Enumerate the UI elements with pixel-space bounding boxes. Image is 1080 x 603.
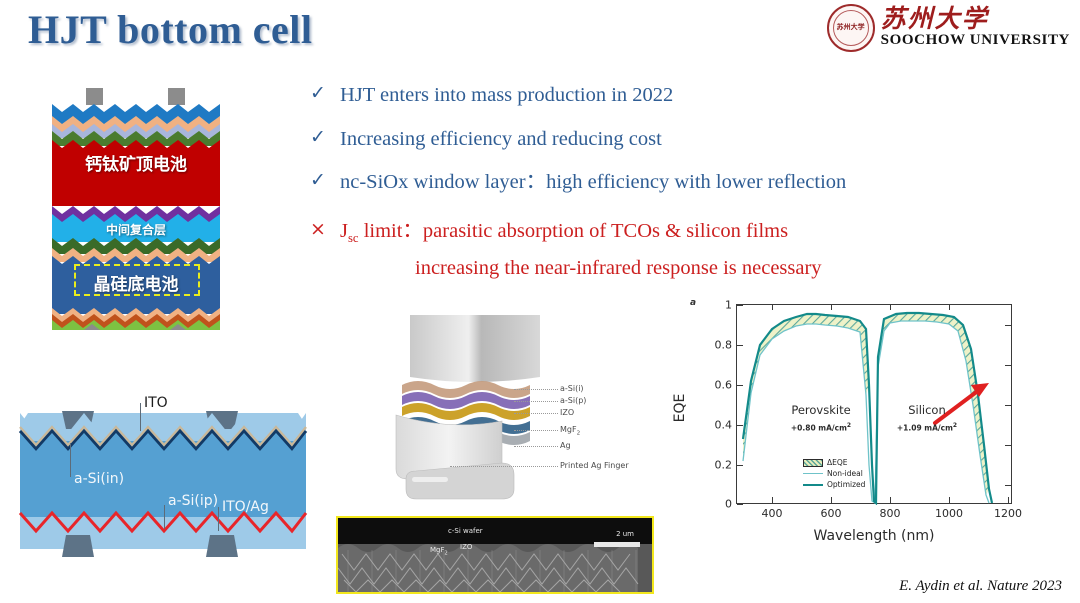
label-a-si-p: a-Si(p) [560, 396, 586, 405]
annotation-perovskite-unit-sup: 2 [847, 422, 851, 429]
annotation-silicon-name: Silicon [877, 403, 977, 417]
leader-izo [514, 413, 558, 414]
y-tick [737, 504, 743, 505]
label-a-si-ip: a-Si(ip) [168, 493, 218, 509]
chart-legend: ΔEQE Non-ideal Optimized [803, 457, 865, 490]
asi-p-leader-line [164, 505, 165, 529]
hjt-svg [18, 395, 308, 580]
x-tick-top [831, 305, 832, 310]
page-title: HJT bottom cell [28, 6, 313, 53]
bullet-text: HJT enters into mass production in 2022 [340, 82, 673, 109]
label-sem-mgf2-text: MgF [430, 546, 445, 554]
legend-label-non-ideal: Non-ideal [827, 469, 863, 478]
legend-swatch-line-thin-icon [803, 473, 823, 474]
citation-text: E. Aydin et al. Nature 2023 [899, 578, 1062, 595]
x-tick [831, 497, 832, 503]
x-tick [772, 497, 773, 503]
eqe-chart: a EQE Wavelength (nm) [678, 292, 1070, 562]
label-a-si-i: a-Si(i) [560, 384, 584, 393]
layer-bands [52, 104, 220, 330]
bullet-item-alert: × Jsc limit：parasitic absorption of TCOs… [310, 218, 980, 281]
label-sem-izo: IZO [460, 543, 472, 551]
label-ito: ITO [144, 395, 168, 411]
label-scale-bar: 2 um [616, 530, 634, 538]
silicon-bottom-cell-label: 晶硅底电池 [52, 270, 220, 295]
y-tick-label: 0.8 [715, 339, 733, 352]
x-tick-top [772, 305, 773, 310]
check-icon: ✓ [310, 82, 340, 106]
legend-item-non-ideal: Non-ideal [803, 468, 865, 479]
y-tick-label: 0.4 [715, 419, 733, 432]
seal-core-text: 苏州大学 [837, 24, 865, 31]
annotation-silicon-value: +1.09 mA/cm2 [877, 422, 977, 433]
y-tick-label: 0.2 [715, 459, 733, 472]
y-tick-right [1005, 365, 1011, 366]
y-tick-label: 0 [725, 498, 732, 511]
layer-render-svg [352, 303, 652, 513]
university-logo: 苏州大学 苏州大学 SOOCHOW UNIVERSITY [827, 4, 1070, 52]
label-ito-ag: ITO/Ag [222, 499, 269, 515]
annotation-silicon-unit-sup: 2 [953, 422, 957, 429]
y-tick [737, 385, 743, 386]
bullet-text: nc-SiOx window layer：high efficiency wit… [340, 169, 846, 196]
leader-printed-ag-finger [450, 466, 558, 467]
sem-svg [338, 518, 652, 592]
check-icon: ✓ [310, 126, 340, 150]
leader-ag [514, 446, 558, 447]
x-tick-top [949, 305, 950, 310]
x-tick [949, 497, 950, 503]
bullet-text-main: limit：parasitic absorption of TCOs & sil… [364, 220, 788, 242]
bullet-text-second-line: increasing the near-infrared response is… [415, 255, 822, 282]
label-ag: Ag [560, 441, 571, 450]
y-tick-right [1005, 325, 1011, 326]
ito-leader-line [140, 403, 141, 431]
y-tick-label: 1 [725, 299, 732, 312]
university-name-en: SOOCHOW UNIVERSITY [881, 32, 1070, 49]
bullet-list: ✓ HJT enters into mass production in 202… [310, 82, 980, 298]
cross-icon: × [310, 218, 340, 242]
bullet-item: ✓ Increasing efficiency and reducing cos… [310, 126, 980, 153]
label-izo: IZO [560, 408, 574, 417]
bullet-item: ✓ nc-SiOx window layer：high efficiency w… [310, 169, 980, 196]
annotation-silicon-value-text: +1.09 mA/cm [897, 424, 953, 433]
bullet-text-alert: Jsc limit：parasitic absorption of TCOs &… [340, 218, 822, 281]
annotation-perovskite: Perovskite +0.80 mA/cm2 [771, 403, 871, 433]
jsc-symbol: J [340, 220, 348, 242]
legend-item-delta-eqe: ΔEQE [803, 457, 865, 468]
tandem-stack-diagram: 钙钛矿顶电池 中间复合层 晶硅底电池 [52, 88, 220, 316]
y-tick-right [1005, 485, 1011, 486]
check-icon: ✓ [310, 169, 340, 193]
plot-area: 1 0.8 0.6 0.4 0.2 0 400 600 800 1000 120… [736, 304, 1012, 504]
university-name-cn: 苏州大学 [881, 6, 989, 31]
asi-n-leader-line [70, 443, 71, 477]
y-tick [737, 345, 743, 346]
y-tick-label: 0.6 [715, 379, 733, 392]
delta-eqe-band-perovskite [743, 314, 869, 461]
panel-label: a [690, 298, 696, 308]
leader-mgf2 [514, 430, 558, 431]
y-axis-label: EQE [672, 394, 688, 423]
legend-label-delta-eqe: ΔEQE [827, 458, 848, 467]
x-tick-label: 600 [821, 507, 842, 520]
x-tick [890, 497, 891, 503]
label-a-si-in: a-Si(in) [74, 471, 124, 487]
annotation-silicon: Silicon +1.09 mA/cm2 [877, 403, 977, 433]
annotation-perovskite-value: +0.80 mA/cm2 [771, 422, 871, 433]
label-mgf2-text: MgF [560, 425, 577, 434]
label-c-si-wafer: c-Si wafer [448, 527, 483, 535]
bullet-text: Increasing efficiency and reducing cost [340, 126, 662, 153]
x-tick-label: 1000 [935, 507, 963, 520]
label-sem-mgf2-subscript: 2 [445, 550, 448, 556]
perovskite-top-cell-label: 钙钛矿顶电池 [52, 150, 220, 175]
jsc-subscript: sc [348, 231, 359, 245]
university-names: 苏州大学 SOOCHOW UNIVERSITY [881, 6, 1070, 49]
leader-a-si-i [514, 389, 558, 390]
ito-ag-leader-line [218, 507, 219, 531]
bullet-item: ✓ HJT enters into mass production in 202… [310, 82, 980, 109]
hjt-cross-section-diagram: ITO a-Si(in) a-Si(ip) ITO/Ag [18, 395, 308, 580]
label-sem-mgf2: MgF2 [430, 546, 448, 556]
sem-micrograph: c-Si wafer MgF2 IZO 2 um [336, 516, 654, 594]
label-printed-ag-finger: Printed Ag Finger [560, 461, 629, 470]
y-tick [737, 425, 743, 426]
x-tick-label: 800 [880, 507, 901, 520]
x-tick-label: 1200 [994, 507, 1022, 520]
label-mgf2-subscript: 2 [577, 431, 581, 437]
x-tick-label: 400 [762, 507, 783, 520]
annotation-perovskite-name: Perovskite [771, 403, 871, 417]
interlayer-label: 中间复合层 [52, 221, 220, 238]
layer-stack-render: a-Si(i) a-Si(p) IZO MgF2 Ag Printed Ag F… [352, 303, 652, 513]
x-tick [1008, 497, 1009, 503]
x-axis-label: Wavelength (nm) [736, 528, 1012, 544]
x-tick-top [890, 305, 891, 310]
legend-swatch-hatch-icon [803, 459, 823, 467]
y-tick-right [1005, 445, 1011, 446]
university-seal-icon: 苏州大学 [827, 4, 875, 52]
label-mgf2: MgF2 [560, 425, 580, 437]
y-tick [737, 305, 743, 306]
y-tick-right [1005, 405, 1011, 406]
annotation-perovskite-value-text: +0.80 mA/cm [791, 424, 847, 433]
legend-swatch-line-thick-icon [803, 484, 823, 486]
y-tick [737, 465, 743, 466]
legend-label-optimized: Optimized [827, 480, 865, 489]
leader-a-si-p [514, 401, 558, 402]
scale-bar [594, 542, 640, 547]
legend-item-optimized: Optimized [803, 479, 865, 490]
